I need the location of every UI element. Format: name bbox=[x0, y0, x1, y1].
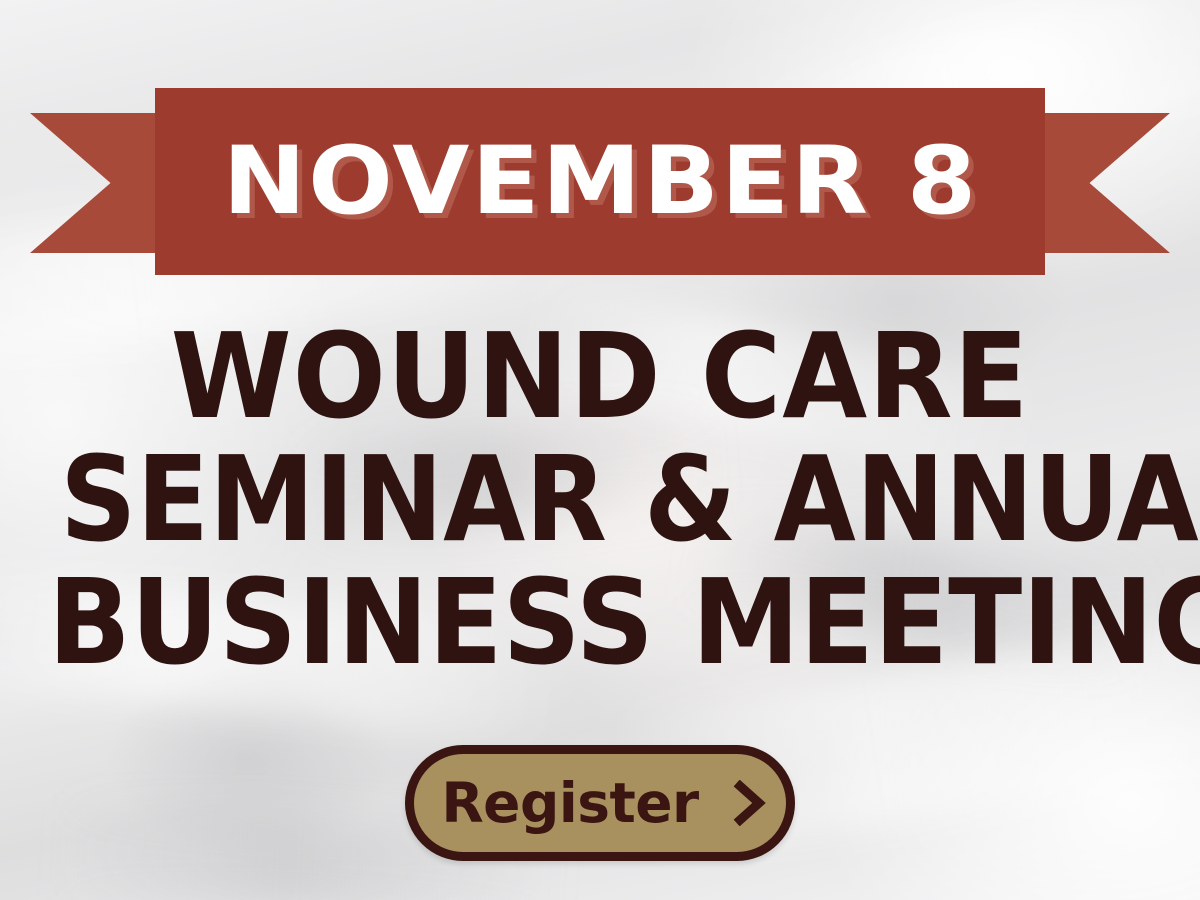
register-button-label: Register bbox=[441, 776, 698, 831]
cta-container: Register bbox=[0, 745, 1200, 861]
page-title: WOUND CARE SEMINAR & ANNUAL BUSINESS MEE… bbox=[0, 318, 1200, 680]
event-promo-banner: NOVEMBER 8 WOUND CARE SEMINAR & ANNUAL B… bbox=[0, 0, 1200, 900]
register-button[interactable]: Register bbox=[405, 745, 795, 861]
chevron-right-icon bbox=[733, 780, 767, 826]
headline-line-1: WOUND CARE bbox=[42, 318, 1158, 435]
headline-line-3: BUSINESS MEETING bbox=[48, 564, 1152, 681]
headline-line-2: SEMINAR & ANNUAL bbox=[60, 441, 1140, 558]
date-ribbon: NOVEMBER 8 bbox=[0, 88, 1200, 278]
ribbon-panel: NOVEMBER 8 bbox=[155, 88, 1045, 275]
event-date-text: NOVEMBER 8 bbox=[222, 135, 978, 229]
